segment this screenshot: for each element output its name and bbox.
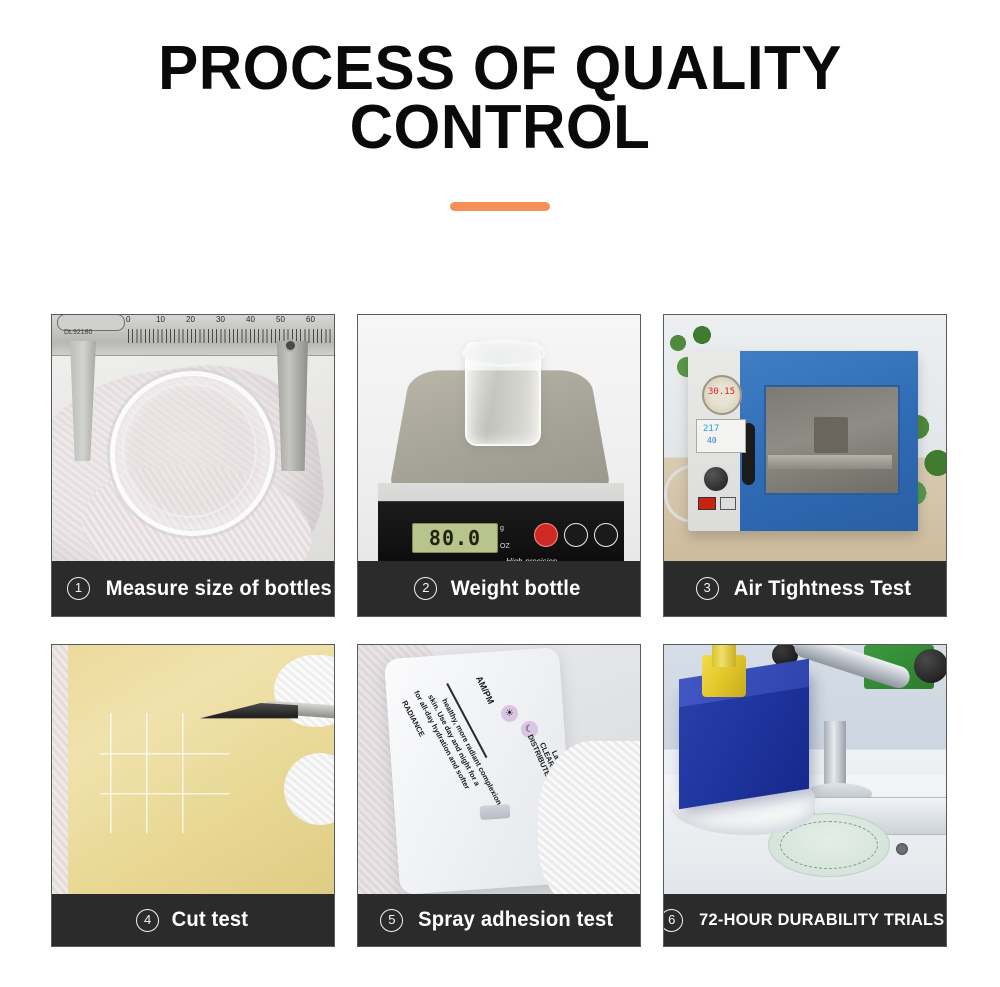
step-caption-4: 4 Cut test	[52, 894, 334, 946]
step-number-badge-5: 5	[380, 909, 403, 932]
caliper-tick-label-30: 30	[216, 315, 225, 324]
vacuum-oven-shelf	[768, 455, 892, 469]
scale-power-button[interactable]	[594, 523, 618, 547]
brass-stem	[712, 645, 736, 667]
rail-bolt-right	[896, 843, 908, 855]
step-photo-durability-trials	[664, 645, 946, 894]
step-card-6[interactable]: 6 72-HOUR DURABILITY TRIALS	[663, 644, 947, 947]
scale-tare-button[interactable]	[534, 523, 558, 547]
oven-secondary-switch[interactable]	[720, 497, 736, 510]
glass-jar-rim	[462, 339, 546, 367]
step-caption-6: 6 72-HOUR DURABILITY TRIALS	[664, 894, 946, 946]
gloved-hand-lower	[284, 753, 334, 825]
sun-icon: ☀	[501, 705, 518, 722]
step-card-3[interactable]: 30.15 217 40 3 Air Tightness Test	[663, 314, 947, 617]
bottle-pump-cap	[480, 804, 511, 820]
vacuum-gauge-reading: 30.15	[708, 387, 735, 397]
step-photo-air-tightness: 30.15 217 40	[664, 315, 946, 561]
step-number-badge-4: 4	[136, 909, 159, 932]
step-number-badge-6: 6	[663, 909, 683, 932]
page-header: PROCESS OF QUALITY CONTROL	[0, 0, 1000, 211]
sample-inside-oven	[814, 417, 848, 453]
step-label-4: Cut test	[172, 908, 249, 932]
step-number-badge-1: 1	[67, 577, 90, 600]
caliper-tick-label-20: 20	[186, 315, 195, 324]
glass-jar-inner-ring	[122, 383, 257, 518]
caliper-tick-label-50: 50	[276, 315, 285, 324]
step-card-4[interactable]: 4 Cut test	[51, 644, 335, 947]
step-label-1: Measure size of bottles	[106, 577, 332, 601]
step-number-badge-2: 2	[414, 577, 437, 600]
scale-unit-button[interactable]	[564, 523, 588, 547]
controller-setpoint-value: 217	[703, 424, 719, 434]
page-title-line-2: CONTROL	[93, 99, 908, 158]
caliper-lock-screw	[286, 341, 295, 350]
page-title: PROCESS OF QUALITY CONTROL	[93, 40, 908, 158]
title-accent-divider	[450, 202, 550, 211]
step-caption-5: 5 Spray adhesion test	[358, 894, 640, 946]
process-steps-grid: DL92180 0 10 20 30 40 50 60 1 Measure si…	[51, 314, 947, 947]
step-number-badge-3: 3	[696, 577, 719, 600]
scale-tagline-text: High-precision	[506, 557, 557, 561]
step-label-3: Air Tightness Test	[733, 577, 910, 601]
caliper-tick-label-10: 10	[156, 315, 165, 324]
oven-power-switch[interactable]	[698, 497, 716, 510]
scale-unit-ounces: OZ	[500, 543, 510, 550]
step-caption-1: 1 Measure size of bottles	[52, 561, 334, 616]
step-card-5[interactable]: RADIANCE for all-day hydration and softe…	[357, 644, 641, 947]
caliper-tick-label-60: 60	[306, 315, 315, 324]
scale-lcd-display: 80.0	[412, 523, 498, 553]
caliper-tick-marks	[128, 329, 334, 343]
step-card-1[interactable]: DL92180 0 10 20 30 40 50 60 1 Measure si…	[51, 314, 335, 617]
step-caption-3: 3 Air Tightness Test	[664, 561, 946, 616]
step-photo-measure-size: DL92180 0 10 20 30 40 50 60	[52, 315, 334, 561]
step-label-5: Spray adhesion test	[418, 908, 613, 932]
caliper-tick-label-40: 40	[246, 315, 255, 324]
scale-unit-grams: g	[500, 525, 504, 532]
controller-actual-value: 40	[707, 436, 717, 445]
step-caption-2: 2 Weight bottle	[358, 561, 640, 616]
step-photo-cut-test	[52, 645, 334, 894]
scale-display-value: 80.0	[413, 524, 497, 552]
cutting-blade	[200, 703, 298, 725]
page-title-line-1: PROCESS OF QUALITY	[93, 40, 908, 99]
step-photo-spray-adhesion: RADIANCE for all-day hydration and softe…	[358, 645, 640, 894]
step-photo-weight-bottle: HEBEIHUANG 80.0 g OZ High-precision	[358, 315, 640, 561]
gloved-hand-right	[538, 741, 640, 894]
temperature-controller[interactable]: 217 40	[696, 419, 746, 453]
tester-adjustment-knob[interactable]	[914, 649, 946, 683]
crosshatch-horizontal-cuts	[100, 753, 230, 833]
step-label-6: 72-HOUR DURABILITY TRIALS	[699, 910, 944, 930]
oven-control-knob[interactable]	[702, 465, 730, 493]
panel-left-edge	[52, 645, 68, 894]
caliper-tick-label-0: 0	[126, 315, 130, 324]
step-card-2[interactable]: HEBEIHUANG 80.0 g OZ High-precision 2 We…	[357, 314, 641, 617]
caliper-model-text: DL92180	[64, 329, 92, 336]
step-label-2: Weight bottle	[451, 577, 581, 601]
